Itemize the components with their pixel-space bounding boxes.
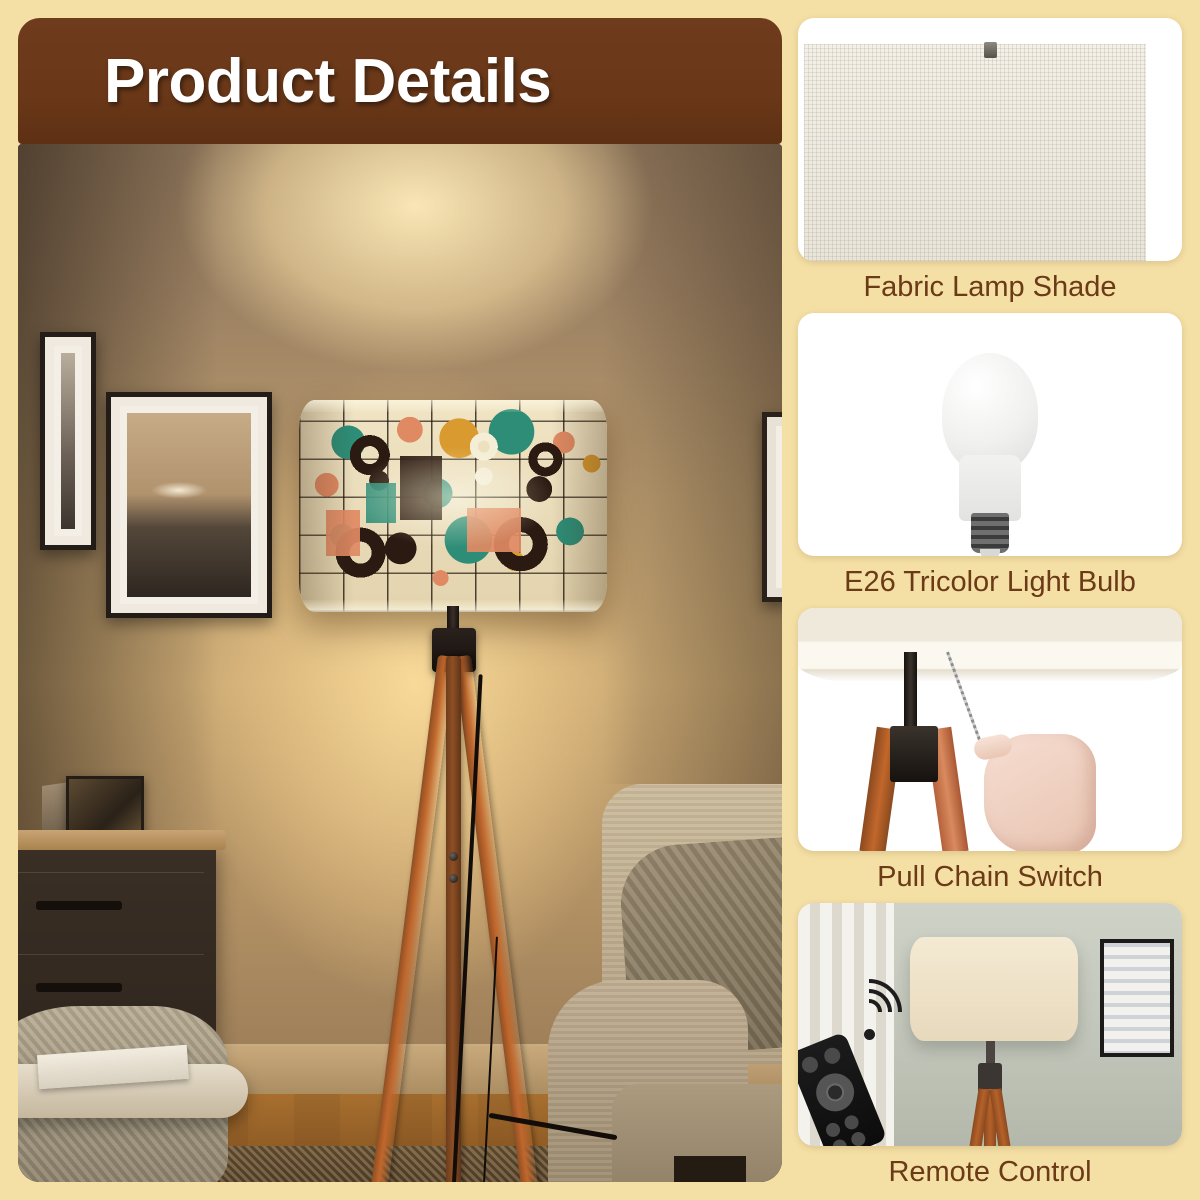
remote-button <box>822 1045 843 1066</box>
detail-item-light-bulb[interactable]: E26 Tricolor Light Bulb <box>798 313 1182 608</box>
header-banner: Product Details <box>18 18 782 144</box>
switch-bracket <box>890 726 938 782</box>
page-title: Product Details <box>104 46 551 117</box>
fabric-lamp-shade-image[interactable] <box>798 18 1182 261</box>
remote-button <box>831 1137 849 1146</box>
lamp-shade <box>910 937 1078 1041</box>
product-details-page: Product Details <box>0 0 1200 1200</box>
remote-button <box>842 1113 860 1131</box>
left-column: Product Details <box>18 18 782 1182</box>
detail-item-fabric-lamp-shade[interactable]: Fabric Lamp Shade <box>798 18 1182 313</box>
signal-origin-dot <box>864 1029 875 1040</box>
shade-lower-edge <box>798 608 1182 694</box>
remote-button <box>849 1130 867 1146</box>
remote-control-image[interactable] <box>798 903 1182 1146</box>
pull-chain-switch-image[interactable] <box>798 608 1182 851</box>
tripod-leg-left <box>362 655 455 1182</box>
feature-callout-column: Fabric Lamp Shade E26 Tricolor Light Bul… <box>798 18 1182 1182</box>
power-cord-floor <box>489 1113 618 1140</box>
remote-control-label: Remote Control <box>798 1146 1182 1198</box>
tripod-floor-lamp <box>18 144 782 1182</box>
fabric-lamp-shade-label: Fabric Lamp Shade <box>798 261 1182 313</box>
remote-button <box>824 1121 842 1139</box>
light-bulb-label: E26 Tricolor Light Bulb <box>798 556 1182 608</box>
remote-button <box>800 1054 821 1075</box>
wall-art <box>1100 939 1174 1057</box>
patterned-lamp-shade <box>299 400 607 612</box>
hero-lifestyle-image[interactable] <box>18 144 782 1182</box>
detail-item-remote-control[interactable]: Remote Control <box>798 903 1182 1198</box>
lamp-pole <box>904 652 917 730</box>
bulb-neck <box>959 455 1021 521</box>
pull-chain-switch-label: Pull Chain Switch <box>798 851 1182 903</box>
light-bulb-image[interactable] <box>798 313 1182 556</box>
detail-item-pull-chain[interactable]: Pull Chain Switch <box>798 608 1182 903</box>
bulb-contact-tip <box>980 549 1000 556</box>
bulb-screw-base <box>971 513 1009 553</box>
